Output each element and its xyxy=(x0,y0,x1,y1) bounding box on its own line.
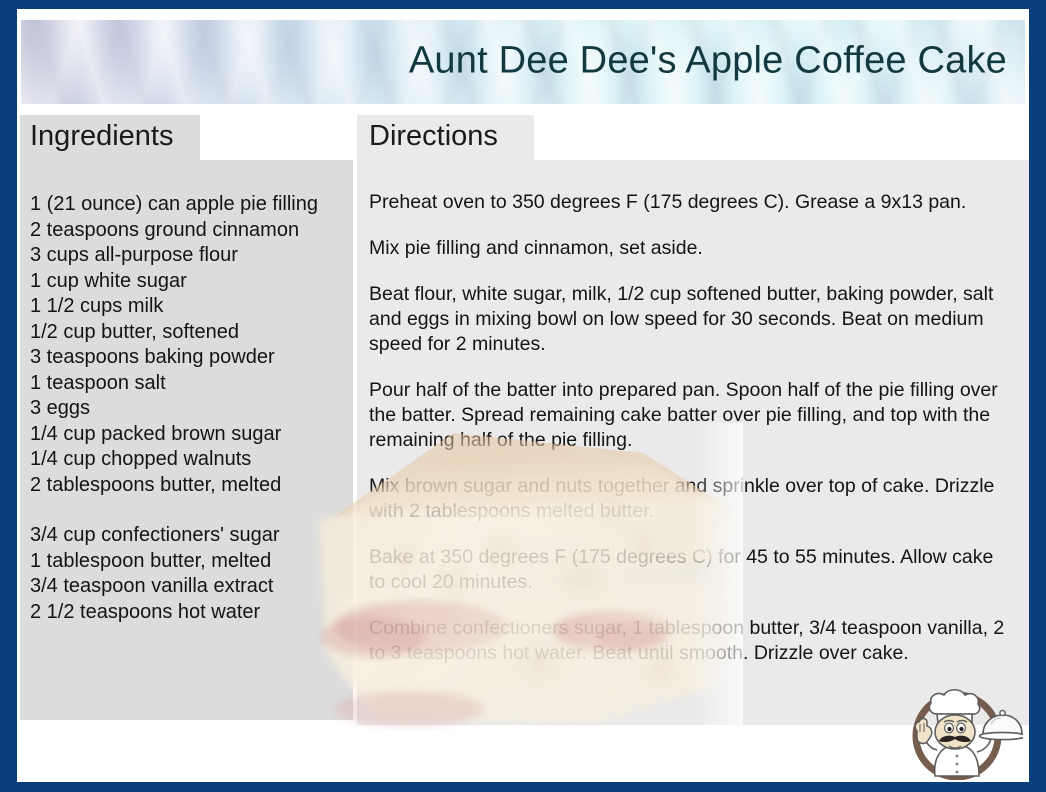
ingredient-item: 2 teaspoons ground cinnamon xyxy=(30,218,343,244)
direction-step: Combine confectioners sugar, 1 tablespoo… xyxy=(369,616,1015,666)
ingredient-item: 1 teaspoon salt xyxy=(30,371,343,397)
ingredients-column: Ingredients 1 (21 ounce) can apple pie f… xyxy=(20,115,353,720)
ingredient-item: 3 teaspoons baking powder xyxy=(30,345,343,371)
ingredient-item: 3/4 cup confectioners' sugar xyxy=(30,523,343,549)
direction-list: Preheat oven to 350 degrees F (175 degre… xyxy=(369,190,1015,666)
ingredient-item: 3 eggs xyxy=(30,396,343,422)
ingredient-item: 1 cup white sugar xyxy=(30,269,343,295)
directions-column: Directions Preheat oven to 350 degrees F… xyxy=(357,115,1029,725)
direction-step: Mix brown sugar and nuts together and sp… xyxy=(369,474,1015,524)
chef-mascot-logo xyxy=(891,684,1023,780)
ingredient-item: 3 cups all-purpose flour xyxy=(30,243,343,269)
ingredient-item: 1 1/2 cups milk xyxy=(30,294,343,320)
directions-panel: Preheat oven to 350 degrees F (175 degre… xyxy=(357,160,1029,725)
ingredient-item: 1 tablespoon butter, melted xyxy=(30,549,343,575)
direction-step: Beat flour, white sugar, milk, 1/2 cup s… xyxy=(369,282,1015,357)
ingredient-item: 1/4 cup chopped walnuts xyxy=(30,447,343,473)
ingredients-heading: Ingredients xyxy=(20,115,200,160)
ingredient-spacer xyxy=(30,498,343,523)
ingredient-item: 2 tablespoons butter, melted xyxy=(30,473,343,499)
direction-step: Mix pie filling and cinnamon, set aside. xyxy=(369,236,1015,261)
direction-step: Pour half of the batter into prepared pa… xyxy=(369,378,1015,453)
page-title: Aunt Dee Dee's Apple Coffee Cake xyxy=(409,40,1007,83)
ingredient-item: 1 (21 ounce) can apple pie filling xyxy=(30,192,343,218)
ingredient-item: 2 1/2 teaspoons hot water xyxy=(30,600,343,626)
ingredient-item: 3/4 teaspoon vanilla extract xyxy=(30,574,343,600)
direction-step: Preheat oven to 350 degrees F (175 degre… xyxy=(369,190,1015,215)
ingredient-item: 1/4 cup packed brown sugar xyxy=(30,422,343,448)
directions-heading: Directions xyxy=(357,115,534,160)
ingredients-panel: 1 (21 ounce) can apple pie filling2 teas… xyxy=(20,160,353,720)
ingredient-item: 1/2 cup butter, softened xyxy=(30,320,343,346)
direction-step: Bake at 350 degrees F (175 degrees C) fo… xyxy=(369,545,1015,595)
header-banner: Aunt Dee Dee's Apple Coffee Cake xyxy=(21,20,1025,104)
recipe-card: Aunt Dee Dee's Apple Coffee Cake Ingredi… xyxy=(0,0,1046,792)
ingredient-list: 1 (21 ounce) can apple pie filling2 teas… xyxy=(30,192,343,625)
